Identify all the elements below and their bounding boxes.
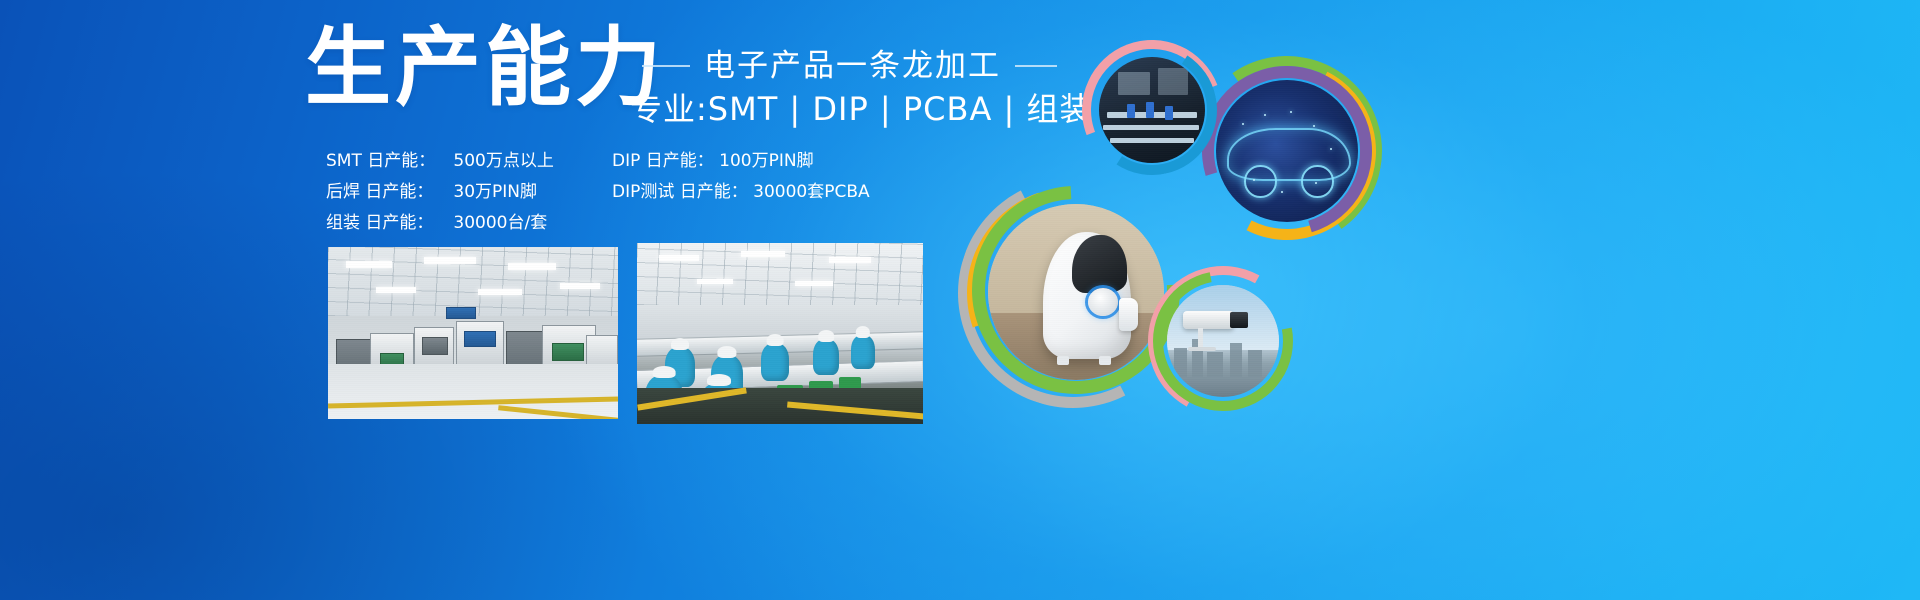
camera-body (1183, 311, 1234, 330)
smart-car-scene (1216, 80, 1358, 222)
spec-row: DIP 日产能： 100万PIN脚 (612, 146, 870, 177)
worker (851, 335, 875, 369)
ceiling-light (829, 257, 871, 263)
spec-label: 后焊 日产能： (326, 177, 448, 208)
machine-part (1146, 102, 1154, 119)
node-dot (1290, 111, 1292, 113)
worker (813, 339, 839, 375)
spec-row: SMT 日产能： 500万点以上 (326, 146, 554, 177)
building (1174, 348, 1187, 377)
photo-security-camera (1167, 285, 1279, 397)
ceiling-light (697, 279, 733, 284)
divider-dash-left (642, 65, 690, 67)
assembly-scene (637, 243, 923, 424)
spec-row: DIP测试 日产能： 30000套PCBA (612, 177, 870, 208)
machine-body (1158, 68, 1188, 96)
machine-part (1165, 106, 1173, 120)
spec-value: 30000台/套 (453, 208, 547, 239)
workshop-scene (328, 247, 618, 419)
machine-rail (1110, 138, 1195, 143)
page-title: 生产能力 (305, 22, 665, 114)
camera-lens (1230, 312, 1248, 327)
basket-handle (1119, 298, 1138, 331)
ceiling-light (508, 263, 556, 270)
ceiling-light (346, 261, 392, 268)
node-dot (1313, 125, 1315, 127)
machine-panel (422, 337, 448, 355)
ceiling-light (659, 255, 699, 261)
machine-panel (464, 331, 496, 347)
pcb-machine-scene (1099, 57, 1205, 163)
wheel-rear (1301, 165, 1333, 197)
air-fryer-scene (988, 204, 1164, 380)
worker-cap (653, 366, 676, 378)
machine-rail (1103, 125, 1198, 130)
photo-pcb-machine (1099, 57, 1205, 163)
worker-cap (671, 338, 689, 350)
photo-assembly-line (637, 243, 923, 424)
spec-column-left: SMT 日产能： 500万点以上 后焊 日产能： 30万PIN脚 组装 日产能：… (326, 146, 554, 239)
photo-air-fryer (988, 204, 1164, 380)
ceiling-light (478, 289, 522, 295)
worker-cap (767, 334, 784, 346)
worker-cap (818, 330, 834, 342)
worker-cap (707, 374, 731, 386)
floor (328, 364, 618, 419)
control-panel (1072, 235, 1127, 293)
building (1207, 352, 1223, 377)
spec-value: 30万PIN脚 (453, 177, 537, 208)
photo-smt-workshop (328, 247, 618, 419)
ceiling-light (560, 283, 600, 289)
machine-part (1127, 104, 1135, 119)
ceiling-light (424, 257, 476, 264)
spec-label: DIP 日产能： (612, 146, 714, 177)
control-knob (1088, 288, 1118, 316)
camera-mount-base (1188, 347, 1216, 351)
machine-body (1118, 72, 1150, 95)
node-dot (1264, 114, 1266, 116)
spec-column-right: DIP 日产能： 100万PIN脚 DIP测试 日产能： 30000套PCBA (612, 146, 870, 208)
collage-circle-pcb-machine (1082, 40, 1222, 180)
spec-row: 组装 日产能： 30000台/套 (326, 208, 554, 239)
machine-panel (552, 343, 584, 361)
spec-value: 100万PIN脚 (719, 146, 813, 177)
product-circle-collage (940, 18, 1410, 418)
building (1230, 343, 1242, 377)
floor (637, 388, 923, 424)
spec-label: DIP测试 日产能： (612, 177, 748, 208)
wheel-front (1244, 165, 1276, 197)
signage (446, 307, 476, 319)
worker-cap (856, 326, 870, 338)
building (1248, 350, 1263, 377)
spec-value: 30000套PCBA (753, 177, 870, 208)
security-camera-product (1183, 301, 1252, 346)
spec-value: 500万点以上 (453, 146, 553, 177)
ceiling (637, 243, 923, 305)
spec-row: 后焊 日产能： 30万PIN脚 (326, 177, 554, 208)
security-camera-scene (1167, 285, 1279, 397)
node-dot (1281, 191, 1283, 193)
ceiling-light (795, 281, 833, 286)
node-dot (1242, 123, 1244, 125)
worker (761, 343, 789, 381)
ceiling (328, 247, 618, 316)
worker-cap (717, 346, 736, 358)
product-foot (1099, 356, 1111, 365)
node-dot (1330, 148, 1332, 150)
air-fryer-product (1043, 232, 1131, 359)
ceiling-light (741, 251, 785, 257)
ceiling-light (376, 287, 416, 293)
spec-label: SMT 日产能： (326, 146, 448, 177)
production-capacity-banner: 生产能力 电子产品一条龙加工 专业:SMT | DIP | PCBA | 组装 … (0, 0, 1920, 600)
collage-circle-security-camera (1148, 266, 1298, 416)
product-foot (1057, 356, 1069, 365)
photo-smart-car (1216, 80, 1358, 222)
spec-label: 组装 日产能： (326, 208, 448, 239)
